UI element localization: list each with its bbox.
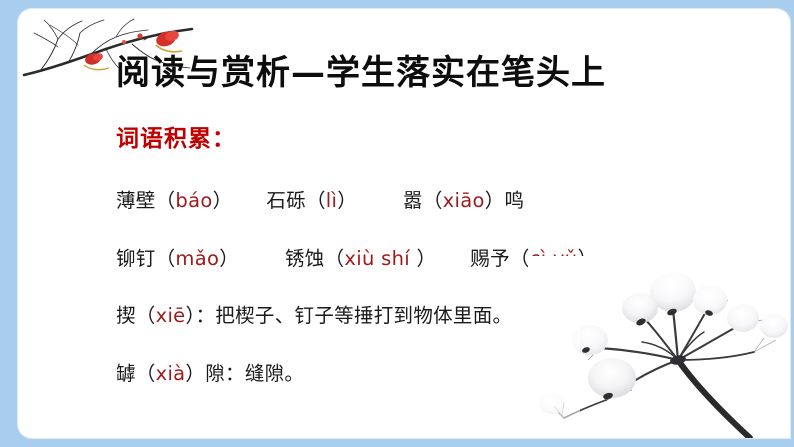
pinyin-text: xiē	[156, 304, 186, 327]
hanzi-text: ）	[213, 189, 233, 212]
hanzi-text: 揳（	[116, 304, 156, 327]
hanzi-text: 薄壁（	[116, 189, 175, 212]
hanzi-text: ）隙：缝隙。	[185, 362, 304, 385]
hanzi-text: ）：把楔子、钉子等捶打到物体里面。	[185, 304, 512, 327]
pinyin-text: mǎo	[175, 247, 219, 270]
slide-card: 阅读与赏析—学生落实在笔头上 词语积累： 薄壁（báo）石砾（lì）嚣（xiāo…	[18, 9, 790, 438]
section-heading: 词语积累：	[116, 119, 236, 153]
pinyin-text: xiāo	[443, 189, 485, 212]
hanzi-text: 嚣（	[403, 189, 443, 212]
pinyin-text: cì yǔ	[530, 247, 578, 270]
pinyin-text: báo	[175, 189, 212, 212]
hanzi-text: 石砾（	[266, 189, 325, 212]
page-title: 阅读与赏析—学生落实在笔头上	[116, 45, 606, 94]
vocabulary-line: 铆钉（mǎo）锈蚀（xiù shí ）赐予（cì yǔ）	[116, 249, 736, 269]
vocabulary-list: 薄壁（báo）石砾（lì）嚣（xiāo）鸣铆钉（mǎo）锈蚀（xiù shí ）…	[116, 191, 736, 383]
hanzi-text: 罅（	[116, 362, 156, 385]
vocabulary-line: 罅（xià）隙：缝隙。	[116, 364, 736, 384]
vocabulary-line: 揳（xiē）：把楔子、钉子等捶打到物体里面。	[116, 306, 736, 326]
pinyin-text: xiù shí	[344, 247, 410, 270]
hanzi-text: ）	[410, 247, 436, 270]
pinyin-text: lì	[326, 189, 337, 212]
presentation-slide: 阅读与赏析—学生落实在笔头上 词语积累： 薄壁（báo）石砾（lì）嚣（xiāo…	[0, 0, 794, 447]
hanzi-text: ）	[337, 189, 357, 212]
hanzi-text: ）	[577, 247, 597, 270]
hanzi-text: 铆钉（	[116, 247, 175, 270]
vocabulary-line: 薄壁（báo）石砾（lì）嚣（xiāo）鸣	[116, 191, 736, 211]
hanzi-text: ）鸣	[485, 189, 525, 212]
hanzi-text: 赐予（	[470, 247, 529, 270]
hanzi-text: ）	[219, 247, 239, 270]
pinyin-text: xià	[156, 362, 186, 385]
hanzi-text: 锈蚀（	[285, 247, 344, 270]
